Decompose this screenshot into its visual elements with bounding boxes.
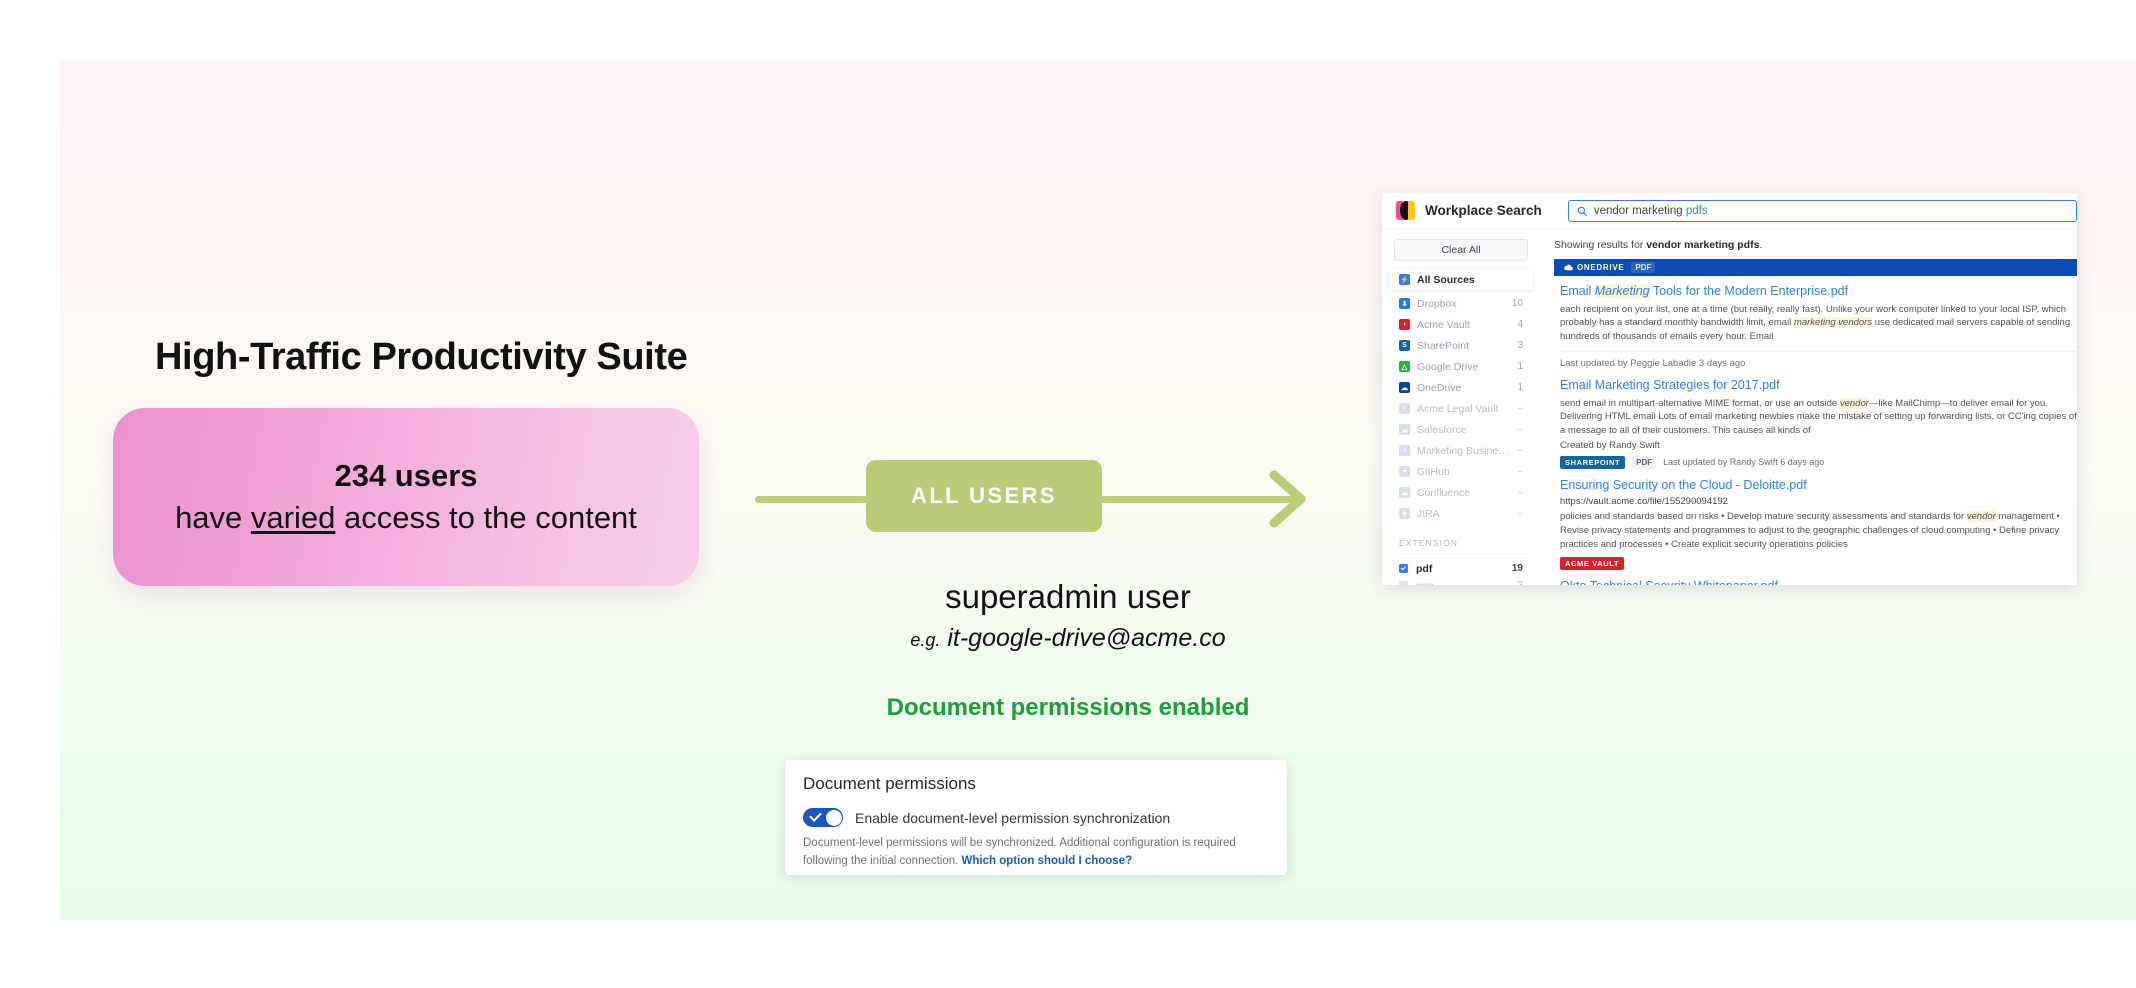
showing-suffix: . [1759,239,1762,251]
search-result-item[interactable]: Email Marketing Tools for the Modern Ent… [1554,284,2077,369]
result-source-tag: ACME VAULT [1560,557,1624,570]
source-label: SharePoint [1417,340,1510,352]
user-access-description: have varied access to the content [175,500,637,536]
source-count: – [1517,445,1523,456]
elastic-logo-icon [1396,201,1415,220]
permissions-card-title: Document permissions [803,774,1269,794]
result-snippet: policies and standards based on risks • … [1560,510,2077,551]
source-count: – [1517,424,1523,435]
search-query-typed: vendor marketing [1594,205,1686,217]
showing-results-label: Showing results for vendor marketing pdf… [1554,239,2077,251]
result-snippet: send email in multipart-alternative MIME… [1560,397,2077,438]
app-name: Workplace Search [1425,203,1542,218]
permission-sync-toggle[interactable] [803,808,843,827]
result-extension-badge: PDF [1632,456,1656,469]
slide-canvas: High-Traffic Productivity Suite 234 user… [0,0,2136,988]
result-divider [1560,351,2077,352]
source-count: – [1517,466,1523,477]
result-title-highlight: Marketing [1595,284,1650,298]
result-meta: ACME VAULT [1560,557,2077,570]
source-filter-google-drive[interactable]: △Google Drive1 [1394,356,1528,377]
showing-query: vendor marketing pdfs [1646,239,1759,251]
extension-count: 19 [1512,563,1523,574]
banner-extension-badge: PDF [1631,262,1655,273]
extension-filter-png[interactable]: png3 [1394,577,1528,585]
search-result-item[interactable]: Okta Technical Security Whitepaper.pdfse… [1554,579,2077,585]
source-count: 3 [1517,340,1523,351]
search-result-item[interactable]: Email Marketing Strategies for 2017.pdfs… [1554,378,2077,469]
banner-source-text: ONEDRIVE [1577,263,1624,272]
source-label: Google Drive [1417,361,1510,373]
source-icon: ☁ [1399,424,1410,435]
all-users-badge: ALL USERS [866,460,1102,532]
source-icon: △ [1399,361,1410,372]
user-access-card: 234 users have varied access to the cont… [113,408,699,586]
source-count: – [1517,487,1523,498]
source-label: All Sources [1417,274,1516,286]
permissions-description: Document-level permissions will be synch… [803,835,1269,871]
page-title: High-Traffic Productivity Suite [155,336,687,379]
workplace-search-window: Workplace Search vendor marketing pdfs C… [1382,193,2077,585]
banner-source-label: ONEDRIVE [1564,263,1624,272]
source-filter-acme-vault[interactable]: ◖Acme Vault4 [1394,314,1528,335]
source-icon: ☁ [1399,487,1410,498]
snippet-highlight: vendor [1967,511,1996,522]
result-byline: Created by Randy Swift [1560,440,2077,451]
showing-prefix: Showing results for [1554,239,1646,251]
extension-label: png [1416,580,1509,586]
source-filter-onedrive[interactable]: ☁OneDrive1 [1394,377,1528,398]
search-icon [1577,206,1587,216]
source-icon: ⚡ [1399,274,1410,285]
access-text-pre: have [175,500,251,535]
source-label: JIRA [1417,508,1510,520]
source-count: 1 [1517,361,1523,372]
extension-label: pdf [1416,563,1504,575]
checkbox-pdf[interactable] [1399,564,1408,573]
example-email-line: e.g. it-google-drive@acme.co [0,624,2136,653]
source-count: – [1517,403,1523,414]
source-filter-sharepoint[interactable]: SSharePoint3 [1394,335,1528,356]
example-prefix: e.g. [910,630,940,650]
result-source-banner: ONEDRIVE PDF [1554,259,2077,276]
source-icon: ✈ [1399,508,1410,519]
result-last-updated: Last updated by Peggie Labadie 3 days ag… [1560,358,2077,369]
result-meta-text: Last updated by Randy Swift 6 days ago [1663,457,1824,467]
source-label: Confluence [1417,487,1510,499]
result-source-tag: SHAREPOINT [1560,456,1625,469]
search-input[interactable]: vendor marketing pdfs [1568,200,2077,222]
extension-filter-list: pdf19png3docx2 [1394,560,1528,585]
extension-count: 3 [1517,580,1523,585]
source-filter-github[interactable]: ●GitHub– [1394,461,1528,482]
cloud-icon [1564,264,1573,271]
arrow-head-icon [1268,470,1308,528]
document-permissions-status: Document permissions enabled [0,694,2136,722]
source-label: GitHub [1417,466,1510,478]
result-list: Email Marketing Tools for the Modern Ent… [1554,284,2077,585]
source-label: Acme Legal Vault [1417,403,1510,415]
permissions-toggle-row[interactable]: Enable document-level permission synchro… [803,808,1269,827]
source-icon: ● [1399,466,1410,477]
result-title[interactable]: Ensuring Security on the Cloud - Deloitt… [1560,478,2077,494]
clear-all-button[interactable]: Clear All [1394,239,1528,261]
checkbox-png[interactable] [1399,581,1408,585]
source-count: 10 [1512,298,1523,309]
result-title[interactable]: Email Marketing Tools for the Modern Ent… [1560,284,2077,300]
extension-section-header: EXTENSION [1399,538,1528,554]
source-icon: ◖ [1399,319,1410,330]
app-header: Workplace Search vendor marketing pdfs [1382,193,2077,229]
source-icon: ☁ [1399,382,1410,393]
source-filter-all-sources[interactable]: ⚡All Sources [1389,269,1533,290]
which-option-link[interactable]: Which option should I choose? [962,855,1133,867]
source-count: 1 [1517,382,1523,393]
search-query-suggestion: pdfs [1686,205,1708,217]
source-count: 4 [1517,319,1523,330]
search-results-panel: Showing results for vendor marketing pdf… [1540,229,2077,585]
source-label: Acme Vault [1417,319,1510,331]
source-icon: ◖ [1399,403,1410,414]
snippet-highlight: marketing vendors [1794,317,1872,328]
source-icon: S [1399,340,1410,351]
source-filter-jira[interactable]: ✈JIRA– [1394,503,1528,524]
snippet-highlight: vendor [1840,398,1869,409]
filters-sidebar: Clear All ⚡All Sources⬇Dropbox10◖Acme Va… [1382,229,1540,585]
source-icon: ⬇ [1399,298,1410,309]
result-snippet: each recipient on your list, one at a ti… [1560,303,2077,344]
source-filter-dropbox[interactable]: ⬇Dropbox10 [1394,293,1528,314]
source-label: Marketing Business Re… [1417,445,1510,457]
source-label: OneDrive [1417,382,1510,394]
document-permissions-card: Document permissions Enable document-lev… [785,760,1287,875]
source-count: – [1517,508,1523,519]
source-filter-confluence[interactable]: ☁Confluence– [1394,482,1528,503]
source-filter-marketing-business-re[interactable]: ◖Marketing Business Re…– [1394,440,1528,461]
result-title[interactable]: Email Marketing Strategies for 2017.pdf [1560,378,2077,394]
result-title[interactable]: Okta Technical Security Whitepaper.pdf [1560,579,2077,585]
source-filter-list: ⚡All Sources⬇Dropbox10◖Acme Vault4SShare… [1394,269,1528,524]
source-filter-salesforce[interactable]: ☁Salesforce– [1394,419,1528,440]
search-result-item[interactable]: Ensuring Security on the Cloud - Deloitt… [1554,478,2077,570]
extension-filter-pdf[interactable]: pdf19 [1394,560,1528,577]
user-count-label: 234 users [334,458,477,494]
access-text-emphasis: varied [251,500,335,535]
toggle-knob [826,810,842,826]
search-query-text: vendor marketing pdfs [1594,205,1708,217]
source-label: Salesforce [1417,424,1510,436]
check-icon [809,809,822,822]
permission-sync-label: Enable document-level permission synchro… [855,810,1170,826]
source-filter-acme-legal-vault[interactable]: ◖Acme Legal Vault– [1394,398,1528,419]
source-icon: ◖ [1399,445,1410,456]
access-text-post: access to the content [335,500,637,535]
result-meta: SHAREPOINTPDFLast updated by Randy Swift… [1560,456,2077,469]
result-url: https://vault.acme.co/file/155290094192 [1560,496,2077,507]
source-label: Dropbox [1417,298,1505,310]
app-body: Clear All ⚡All Sources⬇Dropbox10◖Acme Va… [1382,229,2077,585]
example-email: it-google-drive@acme.co [947,624,1225,652]
